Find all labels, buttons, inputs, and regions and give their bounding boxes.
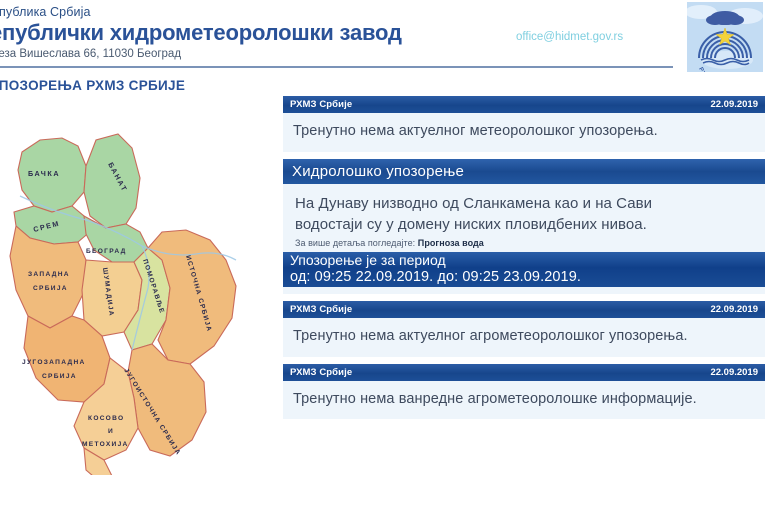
map-label-jugozapadna-srbija-2: СРБИЈА [42, 373, 77, 380]
panel-hydro-line-2: водостаји су у домену ниских пловидбених… [295, 214, 765, 235]
panel-agro-warning: РХМЗ Србије 22.09.2019 Тренутно нема акт… [283, 301, 765, 357]
panel-hydro-period-title: Упозорење је за период [290, 253, 765, 269]
page-title: УПОЗОРЕЊА РХМЗ СРБИЈЕ [0, 78, 185, 93]
panel-hydro-footer [283, 287, 765, 294]
map-label-metohija: МЕТОХИЈА [82, 441, 129, 448]
map-label-backa: БАЧКА [28, 169, 60, 178]
panel-agro-header: РХМЗ Србије 22.09.2019 [283, 301, 765, 318]
panel-hydro-title: Хидролошко упозорење [292, 163, 464, 180]
panel-agro-info-body: Тренутно нема ванредне агрометеоролошке … [283, 381, 765, 420]
rhmz-logo[interactable]: РХМЗ СРБИЈЕ [687, 2, 763, 72]
panel-hydro-warning: Хидролошко упозорење На Дунаву низводно … [283, 159, 765, 295]
panel-hydro-period: Упозорење је за период од: 09:25 22.09.2… [283, 252, 765, 287]
map-label-zapadna-srbija-1: ЗАПАДНА [28, 271, 70, 278]
map-region-banat[interactable] [84, 134, 140, 228]
panel-hydro-header: Хидролошко упозорење [283, 159, 765, 184]
panel-hydro-more: За више детаља погледајте: Прогноза вода [295, 238, 765, 248]
panel-agro-source: РХМЗ Србије [290, 304, 352, 315]
header-institute-name: епублички хидрометеоролошки завод [0, 20, 402, 46]
page-root: епублика Србија епублички хидрометеороло… [0, 0, 765, 510]
panel-hydro-more-link[interactable]: Прогноза вода [418, 238, 484, 248]
panel-agro-info-date: 22.09.2019 [710, 367, 758, 378]
map-label-jugozapadna-srbija-1: ЈУГОЗАПАДНА [22, 359, 86, 366]
site-header: епублика Србија епублички хидрометеороло… [0, 0, 765, 68]
panel-hydro-line-1: На Дунаву низводно од Сланкамена као и н… [295, 193, 765, 214]
panel-hydro-more-prefix: За више детаља погледајте: [295, 238, 415, 248]
panel-meteo-body: Тренутно нема актуелног метеоролошког уп… [283, 113, 765, 152]
serbia-regions-map[interactable]: БАЧКА БАНАТ СРЕМ БЕОГРАД ЗАПАДНА СРБИЈА … [0, 120, 272, 475]
panel-agro-date: 22.09.2019 [710, 304, 758, 315]
map-label-kosovo-1: КОСОВО [88, 415, 124, 422]
panel-meteo-date: 22.09.2019 [710, 99, 758, 110]
panel-agro-body: Тренутно нема актуелног агрометеоролошко… [283, 318, 765, 357]
panel-meteo-header: РХМЗ Србије 22.09.2019 [283, 96, 765, 113]
header-divider [0, 66, 673, 68]
warnings-column: РХМЗ Србије 22.09.2019 Тренутно нема акт… [283, 96, 765, 426]
map-label-kosovo-2: И [108, 428, 114, 435]
map-label-zapadna-srbija-2: СРБИЈА [33, 285, 68, 292]
panel-agro-info-header: РХМЗ Србије 22.09.2019 [283, 364, 765, 381]
panel-agro-info-source: РХМЗ Србије [290, 367, 352, 378]
panel-meteo-warning: РХМЗ Србије 22.09.2019 Тренутно нема акт… [283, 96, 765, 152]
panel-agro-info-message: Тренутно нема ванредне агрометеоролошке … [293, 390, 765, 410]
logo-graphic: РХМЗ СРБИЈЕ [687, 2, 763, 72]
panel-agro-message: Тренутно нема актуелног агрометеоролошко… [293, 327, 765, 347]
map-label-beograd: БЕОГРАД [86, 248, 127, 255]
header-email-link[interactable]: office@hidmet.gov.rs [516, 31, 623, 43]
panel-meteo-message: Тренутно нема актуелног метеоролошког уп… [293, 122, 765, 142]
panel-hydro-body: На Дунаву низводно од Сланкамена као и н… [283, 184, 765, 253]
panel-agro-info: РХМЗ Србије 22.09.2019 Тренутно нема ван… [283, 364, 765, 420]
header-address: неза Вишеслава 66, 11030 Београд [0, 48, 181, 60]
panel-hydro-period-dates: од: 09:25 22.09.2019. до: 09:25 23.09.20… [290, 269, 765, 285]
panel-meteo-source: РХМЗ Србије [290, 99, 352, 110]
header-country-name: епублика Србија [0, 5, 91, 19]
map-graphic: БАЧКА БАНАТ СРЕМ БЕОГРАД ЗАПАДНА СРБИЈА … [0, 120, 272, 475]
